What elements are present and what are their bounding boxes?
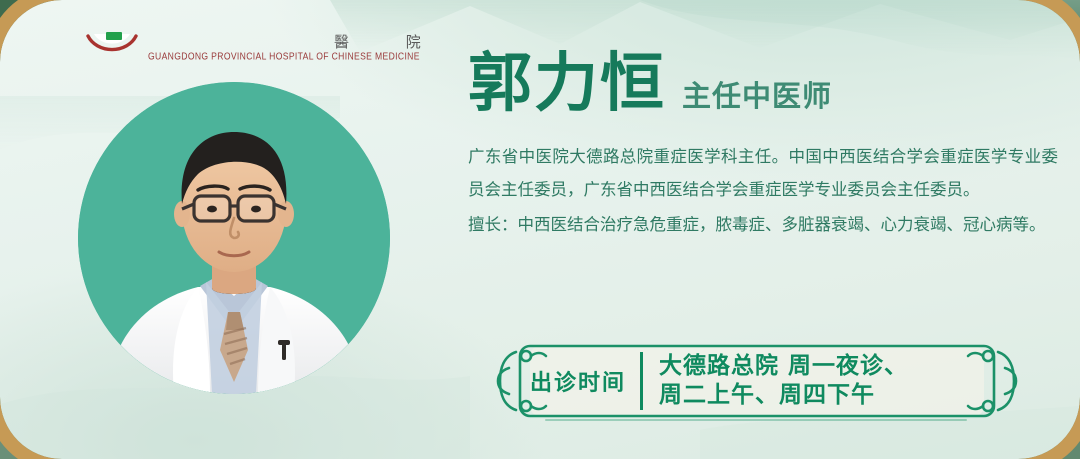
doctor-title: 主任中医师 xyxy=(682,82,832,116)
hospital-crescent-logo-icon xyxy=(84,30,140,64)
bio-paragraph: 擅长：中西医结合治疗急危重症，脓毒症、多脏器衰竭、心力衰竭、冠心病等。 xyxy=(468,208,1058,241)
doctor-portrait-image xyxy=(78,82,390,394)
hospital-name-en: GUANGDONG PROVINCIAL HOSPITAL OF CHINESE… xyxy=(148,50,420,62)
doctor-info: 郭力恒 主任中医师 广东省中医院大德路总院重症医学科主任。中国中西医结合学会重症… xyxy=(468,52,1058,241)
doctor-portrait xyxy=(78,82,390,394)
hospital-name-cn: 醫 院 xyxy=(334,35,447,50)
doctor-name: 郭力恒 xyxy=(468,52,666,116)
schedule-value: 大德路总院 周一夜诊、 周二上午、周四下午 xyxy=(643,352,908,411)
doctor-bio: 广东省中医院大德路总院重症医学科主任。中国中西医结合学会重症医学专业委员会主任委… xyxy=(468,140,1058,241)
schedule-box: 出诊时间 大德路总院 周一夜诊、 周二上午、周四下午 xyxy=(486,338,1046,424)
hospital-logo: 醫 院 GUANGDONG PROVINCIAL HOSPITAL OF CHI… xyxy=(84,28,447,62)
schedule-label: 出诊时间 xyxy=(530,365,640,397)
doctor-name-row: 郭力恒 主任中医师 xyxy=(468,52,1058,116)
doctor-profile-card: 醫 院 GUANGDONG PROVINCIAL HOSPITAL OF CHI… xyxy=(0,0,1080,459)
bio-paragraph: 广东省中医院大德路总院重症医学科主任。中国中西医结合学会重症医学专业委员会主任委… xyxy=(468,140,1058,206)
schedule-value-line1: 大德路总院 周一夜诊、 xyxy=(659,352,908,381)
schedule-value-line2: 周二上午、周四下午 xyxy=(659,381,908,410)
